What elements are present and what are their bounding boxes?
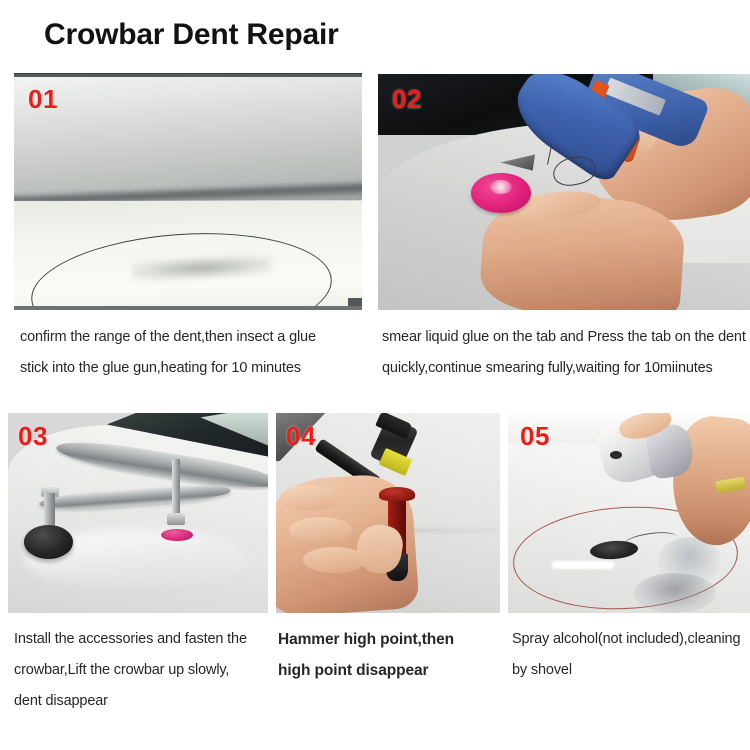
product-instruction-page: Crowbar Dent Repair 01 confirm the range… <box>0 0 750 750</box>
panel05-hand-shadow <box>634 573 716 613</box>
step-badge-05: 05 <box>520 421 550 452</box>
caption-line: Spray alcohol(not included),cleaning <box>512 624 750 655</box>
step-04-caption: Hammer high point,then high point disapp… <box>278 624 502 686</box>
caption-line: crowbar,Lift the crowbar up slowly, <box>14 655 270 686</box>
caption-line: by shovel <box>512 655 750 686</box>
panel03-puller-collar <box>167 513 185 525</box>
panel01-bottom-edge <box>14 306 362 310</box>
caption-line: Hammer high point,then <box>278 624 502 655</box>
panel04-knockdown-red-handle <box>379 487 415 501</box>
step-badge-03: 03 <box>18 421 48 452</box>
step-badge-04: 04 <box>286 421 316 452</box>
step-03-caption: Install the accessories and fasten the c… <box>14 624 270 717</box>
step-01-caption: confirm the range of the dent,then insec… <box>20 322 370 384</box>
step-01-image: 01 <box>14 74 362 310</box>
page-title: Crowbar Dent Repair <box>44 18 339 52</box>
step-02-caption: smear liquid glue on the tab and Press t… <box>382 322 750 384</box>
panel05-spray-nozzle <box>610 451 622 459</box>
step-05-caption: Spray alcohol(not included),cleaning by … <box>512 624 750 686</box>
panel03-puller-shaft <box>172 459 180 519</box>
step-03-image: 03 <box>8 413 268 613</box>
step-badge-02: 02 <box>392 84 422 115</box>
panel04-knuckle <box>289 517 352 543</box>
caption-line: dent disappear <box>14 686 270 717</box>
caption-line: Install the accessories and fasten the <box>14 624 270 655</box>
panel05-paint-gleam <box>552 561 615 569</box>
step-02-image: 02 <box>378 74 750 310</box>
step-04-image: 04 <box>276 413 500 613</box>
panel03-pink-glue-tab <box>161 529 192 541</box>
panel03-rubber-foot <box>24 525 73 559</box>
caption-line: stick into the glue gun,heating for 10 m… <box>20 353 370 384</box>
caption-line: high point disappear <box>278 655 502 686</box>
panel04-knuckle <box>280 485 338 511</box>
step-badge-01: 01 <box>28 84 58 115</box>
caption-line: confirm the range of the dent,then insec… <box>20 322 370 353</box>
step-05-image: 05 <box>508 413 750 613</box>
caption-line: quickly,continue smearing fully,waiting … <box>382 353 750 384</box>
caption-line: smear liquid glue on the tab and Press t… <box>382 322 750 353</box>
